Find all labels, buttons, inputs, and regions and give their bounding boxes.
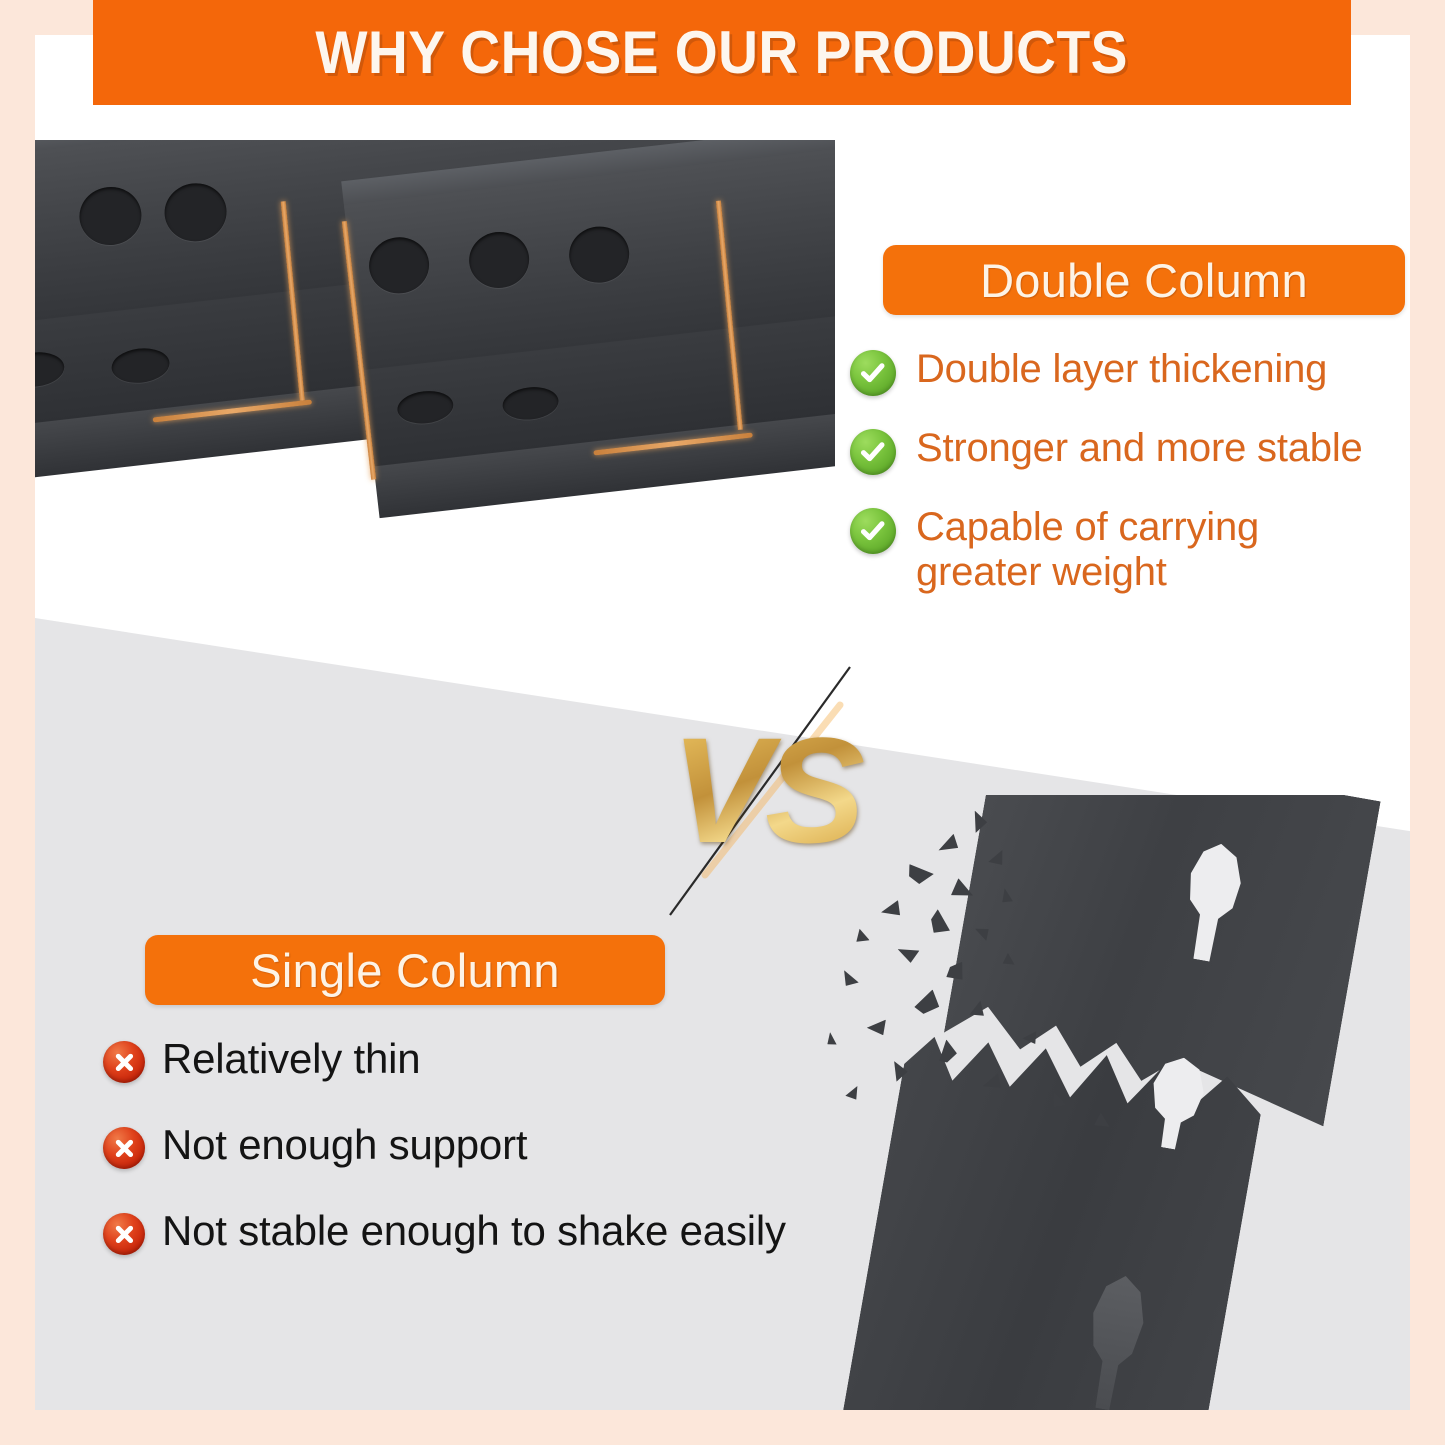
check-circle-icon <box>850 429 896 475</box>
double-column-beam-photo <box>35 140 835 640</box>
list-item-label: Capable of carrying greater weight <box>916 505 1346 595</box>
list-item-label: Not stable enough to shake easily <box>162 1207 786 1254</box>
list-item-label: Stronger and more stable <box>916 426 1363 471</box>
check-circle-icon <box>850 350 896 396</box>
list-item: Capable of carrying greater weight <box>850 505 1410 595</box>
cross-circle-icon <box>103 1041 145 1083</box>
product-comparison-poster: Double Column Double layer thickening S <box>0 0 1445 1445</box>
versus-label: VS <box>635 675 895 905</box>
broken-post-lower-segment <box>843 1017 1267 1410</box>
versus-divider: VS <box>635 675 895 905</box>
list-item: Stronger and more stable <box>850 426 1410 475</box>
list-item: Not enough support <box>103 1121 863 1169</box>
list-item-label: Relatively thin <box>162 1035 420 1082</box>
double-column-benefits-list: Double layer thickening Stronger and mor… <box>850 347 1410 625</box>
header-banner: WHY CHOSE OUR PRODUCTS <box>93 0 1351 105</box>
double-column-badge-label: Double Column <box>980 253 1308 308</box>
page-title: WHY CHOSE OUR PRODUCTS <box>316 18 1129 87</box>
single-column-badge: Single Column <box>145 935 665 1005</box>
list-item-label: Double layer thickening <box>916 347 1327 392</box>
double-column-badge: Double Column <box>883 245 1405 315</box>
cross-circle-icon <box>103 1127 145 1169</box>
list-item: Relatively thin <box>103 1035 863 1083</box>
content-panel: Double Column Double layer thickening S <box>35 35 1410 1410</box>
steel-beam-front <box>341 140 835 599</box>
check-circle-icon <box>850 508 896 554</box>
list-item: Double layer thickening <box>850 347 1410 396</box>
single-column-badge-label: Single Column <box>250 943 560 998</box>
list-item: Not stable enough to shake easily <box>103 1207 863 1255</box>
list-item-label: Not enough support <box>162 1121 527 1168</box>
single-column-drawbacks-list: Relatively thin Not enough support Not s… <box>103 1035 863 1293</box>
cross-circle-icon <box>103 1213 145 1255</box>
